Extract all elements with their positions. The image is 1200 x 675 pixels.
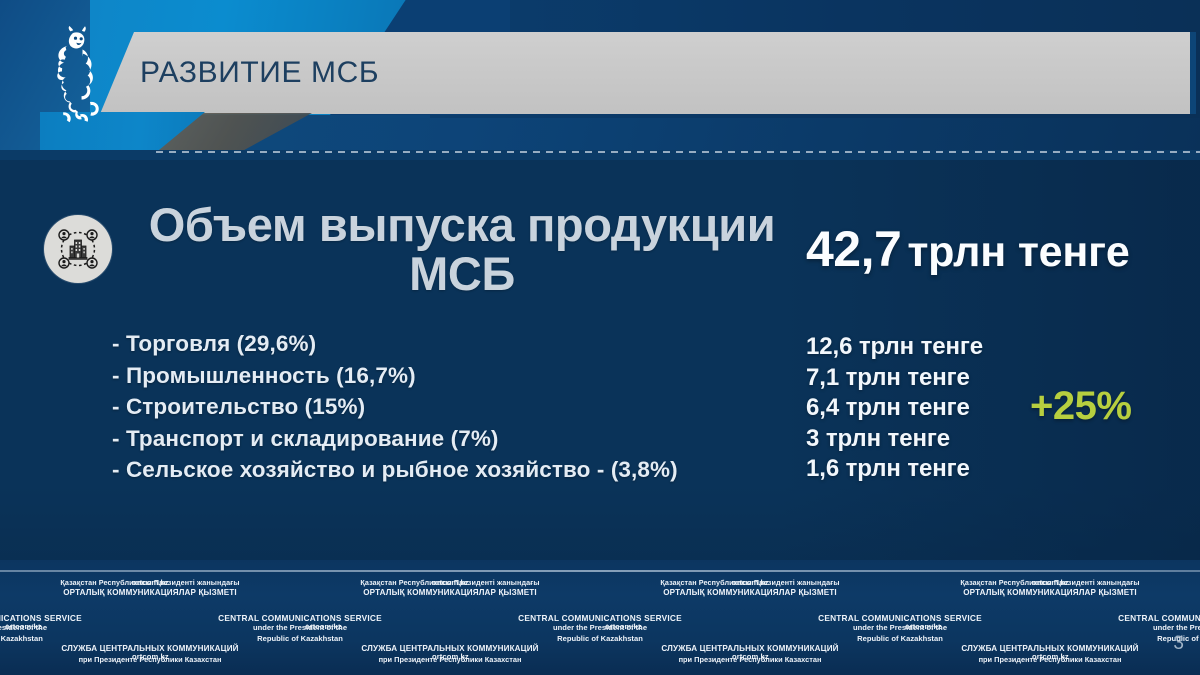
watermark-url: ortcom.kz [905, 622, 942, 631]
total-unit: трлн тенге [907, 228, 1129, 276]
list-item: 6,4 трлн тенге [806, 393, 983, 424]
list-item: - Строительство (15%) [112, 391, 802, 423]
watermark-url: ortcom.kz [132, 578, 169, 587]
watermark-url: ortcom.kz [132, 652, 169, 661]
list-item: - Транспорт и складирование (7%) [112, 423, 802, 455]
list-item: - Сельское хозяйство и рыбное хозяйство … [112, 454, 802, 486]
header-title-bar: РАЗВИТИЕ МСБ [100, 32, 1196, 114]
list-item: 3 трлн тенге [806, 424, 983, 455]
slide-header: РАЗВИТИЕ МСБ [0, 0, 1200, 160]
growth-badge: +25% [1030, 384, 1131, 429]
watermark-url: ortcom.kz [432, 578, 469, 587]
list-item: 12,6 трлн тенге [806, 332, 983, 363]
total-number: 42,7 [806, 221, 901, 277]
watermark-url: ortcom.kz [5, 622, 42, 631]
watermark-url: ortcom.kz [732, 578, 769, 587]
header-title-bar-edge [1190, 32, 1196, 114]
sector-bullet-list: - Торговля (29,6%) - Промышленность (16,… [112, 328, 802, 486]
watermark-url: ortcom.kz [1032, 652, 1069, 661]
slide-body: Объем выпуска продукции МСБ - Торговля (… [0, 160, 1200, 560]
list-item: 1,6 трлн тенге [806, 454, 983, 485]
list-item: - Промышленность (16,7%) [112, 360, 802, 392]
list-item: 7,1 трлн тенге [806, 363, 983, 394]
business-network-building-icon [44, 215, 112, 283]
snow-leopard-emblem-icon [30, 24, 110, 124]
watermark-url: ortcom.kz [732, 652, 769, 661]
watermark-url: ortcom.kz [305, 622, 342, 631]
headline: Объем выпуска продукции МСБ [132, 200, 792, 299]
slide-root: РАЗВИТИЕ МСБ [0, 0, 1200, 675]
watermark-url: ortcom.kz [432, 652, 469, 661]
sector-value-list: 12,6 трлн тенге 7,1 трлн тенге 6,4 трлн … [806, 332, 983, 485]
watermark-url: ortcom.kz [1032, 578, 1069, 587]
header-dashed-divider [156, 151, 1200, 153]
page-title: РАЗВИТИЕ МСБ [140, 56, 379, 90]
page-number: 3 [1173, 633, 1184, 655]
watermark-url: ortcom.kz [605, 622, 642, 631]
slide-footer: Қазақстан Республикасы Президенті жанынд… [0, 560, 1200, 675]
list-item: - Торговля (29,6%) [112, 328, 802, 360]
total-output-value: 42,7трлн тенге [806, 220, 1130, 278]
